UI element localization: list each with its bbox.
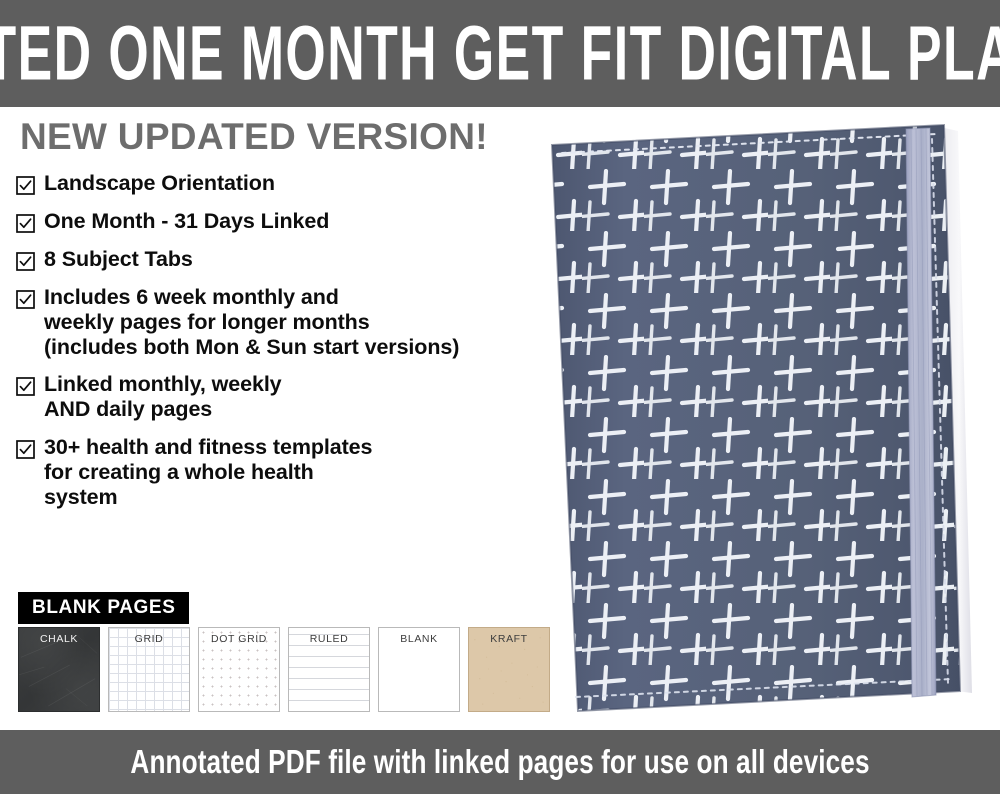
paper-swatch-blank: BLANK — [378, 627, 460, 712]
checked-box-icon — [16, 176, 35, 195]
list-item-label: Linked monthly, weekly AND daily pages — [44, 372, 282, 422]
list-item: Landscape Orientation — [16, 171, 536, 196]
checked-box-icon — [16, 252, 35, 271]
product-listing-image: UNDATED ONE MONTH GET FIT DIGITAL PLANNE… — [0, 0, 1000, 794]
feature-list: Landscape Orientation One Month - 31 Day… — [16, 171, 536, 510]
list-item-label: One Month - 31 Days Linked — [44, 209, 329, 234]
checked-box-icon — [16, 377, 35, 396]
paper-swatch-label: KRAFT — [469, 633, 549, 645]
list-item: Linked monthly, weekly AND daily pages — [16, 372, 536, 422]
paper-swatch-ruled: RULED — [288, 627, 370, 712]
footer-banner: Annotated PDF file with linked pages for… — [0, 730, 1000, 794]
blank-pages-badge: BLANK PAGES — [18, 592, 189, 624]
paper-swatch-label: RULED — [289, 633, 369, 645]
list-item: 30+ health and fitness templates for cre… — [16, 435, 536, 510]
checked-box-icon — [16, 440, 35, 459]
list-item-label: 30+ health and fitness templates for cre… — [44, 435, 372, 510]
checked-box-icon — [16, 214, 35, 233]
list-item: 8 Subject Tabs — [16, 247, 536, 272]
paper-swatch-grid: GRID — [108, 627, 190, 712]
page-title: UNDATED ONE MONTH GET FIT DIGITAL PLANNE… — [0, 15, 1000, 92]
paper-swatch-label: GRID — [109, 633, 189, 645]
paper-swatch-row: CHALK GRID DOT GRID RULED BLANK — [18, 627, 550, 712]
footer-text: Annotated PDF file with linked pages for… — [130, 746, 869, 779]
paper-swatch-label: BLANK — [379, 633, 459, 645]
header-banner: UNDATED ONE MONTH GET FIT DIGITAL PLANNE… — [0, 0, 1000, 107]
list-item: Includes 6 week monthly and weekly pages… — [16, 285, 536, 360]
paper-swatch-dot-grid: DOT GRID — [198, 627, 280, 712]
paper-swatch-chalk: CHALK — [18, 627, 100, 712]
features-panel: NEW UPDATED VERSION! Landscape Orientati… — [16, 118, 536, 523]
checked-box-icon — [16, 290, 35, 309]
subheading: NEW UPDATED VERSION! — [20, 118, 536, 157]
list-item: One Month - 31 Days Linked — [16, 209, 536, 234]
list-item-label: 8 Subject Tabs — [44, 247, 193, 272]
planner-cover-mockup — [520, 107, 1000, 730]
paper-swatch-label: CHALK — [19, 633, 99, 645]
list-item-label: Landscape Orientation — [44, 171, 275, 196]
paper-swatch-label: DOT GRID — [199, 633, 279, 645]
list-item-label: Includes 6 week monthly and weekly pages… — [44, 285, 459, 360]
